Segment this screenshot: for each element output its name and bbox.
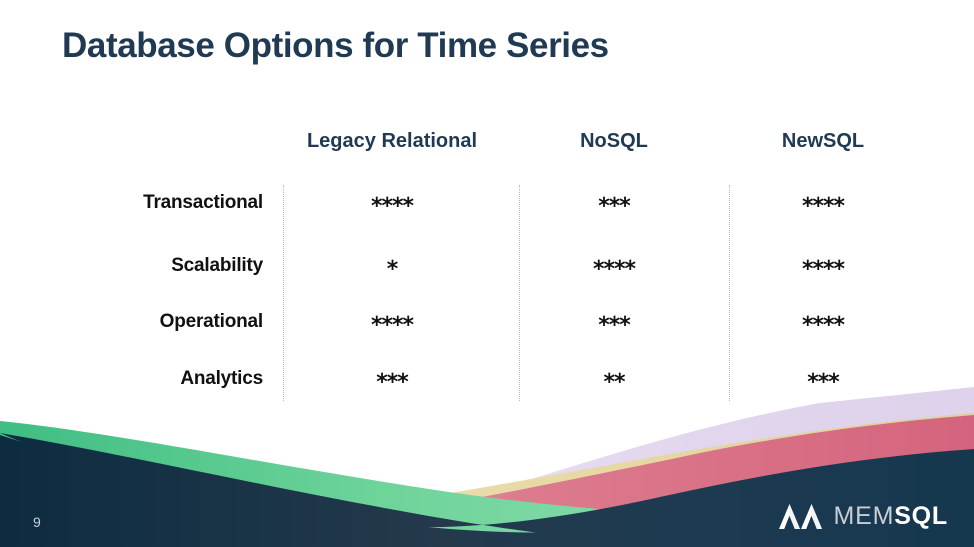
memsql-chevron-icon — [779, 504, 822, 529]
slide-canvas: Database Options for Time Series Legacy … — [0, 0, 974, 547]
logo-text-mem: MEM — [833, 502, 894, 530]
memsql-wordmark: MEMSQL — [833, 504, 948, 529]
row-label-analytics: Analytics — [180, 368, 263, 390]
rating-analytics-newsql: *** — [807, 372, 839, 394]
row-label-operational: Operational — [160, 311, 263, 333]
memsql-logo: MEMSQL — [779, 501, 948, 531]
rating-analytics-legacy-relational: *** — [376, 372, 408, 394]
comparison-matrix: Legacy Relational NoSQL NewSQL Transacti… — [0, 0, 974, 430]
rating-transactional-nosql: *** — [598, 196, 630, 218]
column-header-legacy-relational: Legacy Relational — [307, 130, 477, 153]
page-number: 9 — [33, 514, 41, 530]
row-label-scalability: Scalability — [171, 255, 263, 277]
rating-transactional-legacy-relational: **** — [371, 196, 413, 218]
rating-transactional-newsql: **** — [802, 196, 844, 218]
column-header-nosql: NoSQL — [580, 130, 648, 153]
rating-analytics-nosql: ** — [603, 372, 624, 394]
logo-text-sql: SQL — [894, 502, 948, 530]
rating-scalability-nosql: **** — [593, 259, 635, 281]
column-divider-2 — [519, 185, 520, 401]
row-label-transactional: Transactional — [143, 192, 263, 214]
column-header-newsql: NewSQL — [782, 130, 864, 153]
column-divider-1 — [283, 185, 284, 401]
column-divider-3 — [729, 185, 730, 401]
rating-operational-legacy-relational: **** — [371, 315, 413, 337]
rating-operational-newsql: **** — [802, 315, 844, 337]
rating-scalability-newsql: **** — [802, 259, 844, 281]
rating-operational-nosql: *** — [598, 315, 630, 337]
rating-scalability-legacy-relational: * — [387, 259, 398, 281]
